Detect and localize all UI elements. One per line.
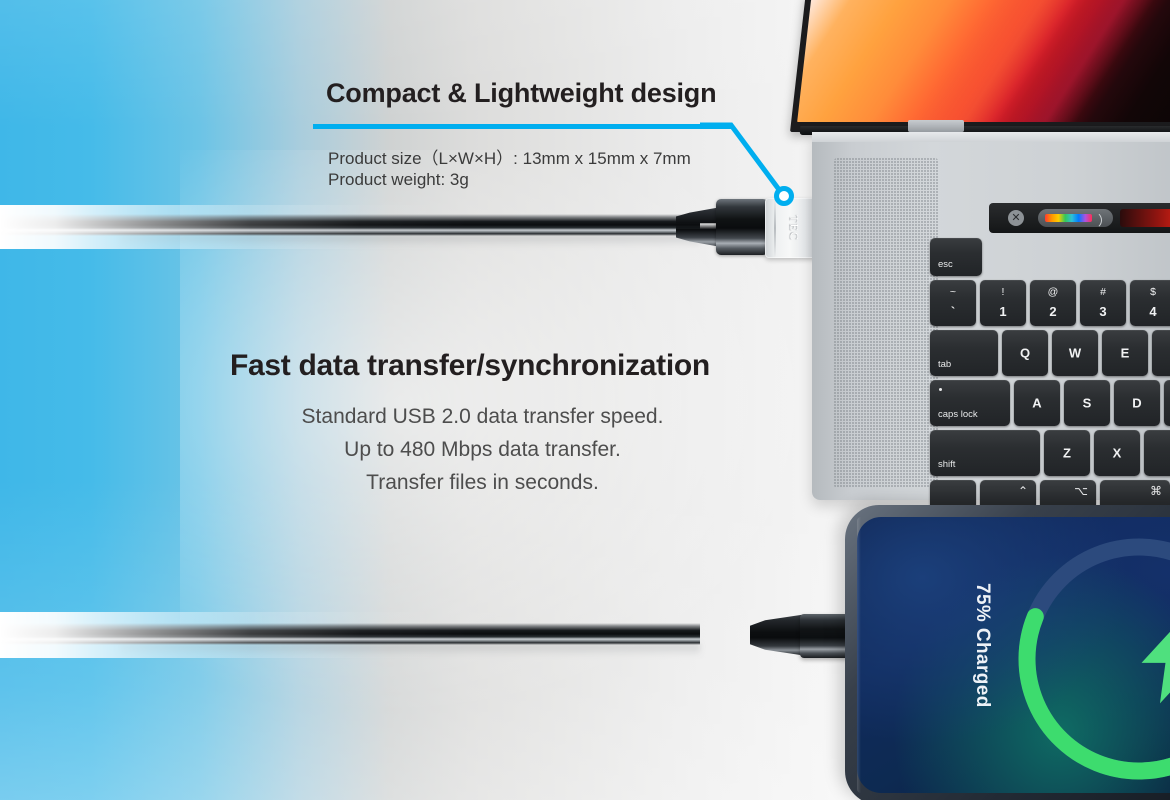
key-e[interactable]: E [1102,330,1148,376]
laptop-wallpaper [797,0,1170,122]
key-label: D [1114,396,1160,411]
key-w[interactable]: W [1052,330,1098,376]
key-f[interactable] [1164,380,1170,426]
key-tab[interactable]: tab [930,330,998,376]
red-slider-one[interactable] [1120,209,1170,227]
key-q[interactable]: Q [1002,330,1048,376]
feature-main-body: Standard USB 2.0 data transfer speed. Up… [230,400,735,499]
control-symbol-icon: ⌃ [1018,484,1028,498]
key-2[interactable]: @ 2 [1030,280,1076,326]
laptop-base-top-edge [812,132,1170,142]
close-icon[interactable]: ✕ [1008,210,1024,226]
key-label-top: ! [980,286,1026,298]
key-shift[interactable]: shift [930,430,1040,476]
key-label: S [1064,396,1110,411]
lightning-bolt-icon [1125,613,1170,709]
key-caps-lock[interactable]: caps lock [930,380,1010,426]
key-label: E [1102,346,1148,361]
command-symbol-icon: ⌘ [1150,484,1162,498]
key-label-bottom: 3 [1080,304,1126,319]
key-1[interactable]: ! 1 [980,280,1026,326]
laptop-hinge-notch [908,120,964,132]
feature-main-line: Up to 480 Mbps data transfer. [230,433,735,466]
key-label-bottom: 4 [1130,304,1170,319]
key-label-bottom: 1 [980,304,1026,319]
laptop-speaker-grille [834,158,938,488]
feature-main-line: Transfer files in seconds. [230,466,735,499]
spec-product-size: Product size（L×W×H）: 13mm x 15mm x 7mm [328,144,691,169]
laptop-touch-bar[interactable]: ✕ ） [989,203,1170,233]
product-feature-graphic: TEC ✕ ） esc ~ ` [0,0,1170,800]
feature-main-headline: Fast data transfer/synchronization [230,349,710,383]
key-label: A [1014,396,1060,411]
color-picker-slider[interactable]: ） [1038,209,1113,227]
key-s[interactable]: S [1064,380,1110,426]
key-label-bottom: 2 [1030,304,1076,319]
caps-indicator-icon [939,388,942,391]
feature-callout-headline: Compact & Lightweight design [326,78,716,109]
rainbow-gradient-icon [1045,214,1092,222]
key-label: esc [938,259,953,270]
key-label: shift [938,459,955,470]
phone-screen: 75% Charged [857,517,1170,793]
key-esc[interactable]: esc [930,238,982,276]
key-z[interactable]: Z [1044,430,1090,476]
key-label-top: @ [1030,286,1076,298]
key-3[interactable]: # 3 [1080,280,1126,326]
laptop-display [790,0,1170,132]
key-backtick[interactable]: ~ ` [930,280,976,326]
key-label: Z [1044,446,1090,461]
key-d[interactable]: D [1114,380,1160,426]
adapter-brand-label: TEC [787,215,802,241]
key-label-top: $ [1130,286,1170,298]
accent-rule [313,124,731,129]
key-label-bottom: ` [930,304,976,319]
option-symbol-icon: ⌥ [1074,484,1088,498]
key-label: Q [1002,346,1048,361]
key-x[interactable]: X [1094,430,1140,476]
key-label-top: ~ [930,286,976,298]
spec-product-weight: Product weight: 3g [328,170,469,190]
key-label: caps lock [938,409,978,420]
key-label: tab [938,359,951,370]
phone-screen-edge-highlight [857,517,861,793]
smartphone: 75% Charged [845,505,1170,800]
feature-main-line: Standard USB 2.0 data transfer speed. [230,400,735,433]
key-a[interactable]: A [1014,380,1060,426]
key-label-top: # [1080,286,1126,298]
key-c[interactable] [1144,430,1170,476]
key-r[interactable] [1152,330,1170,376]
key-4[interactable]: $ 4 [1130,280,1170,326]
key-label: X [1094,446,1140,461]
laptop-keyboard: esc ~ ` ! 1 @ 2 # 3 $ 4 tab Q [930,238,1170,496]
paren-glyph: ） [1098,210,1111,229]
callout-leader-line [700,108,830,208]
key-label: W [1052,346,1098,361]
